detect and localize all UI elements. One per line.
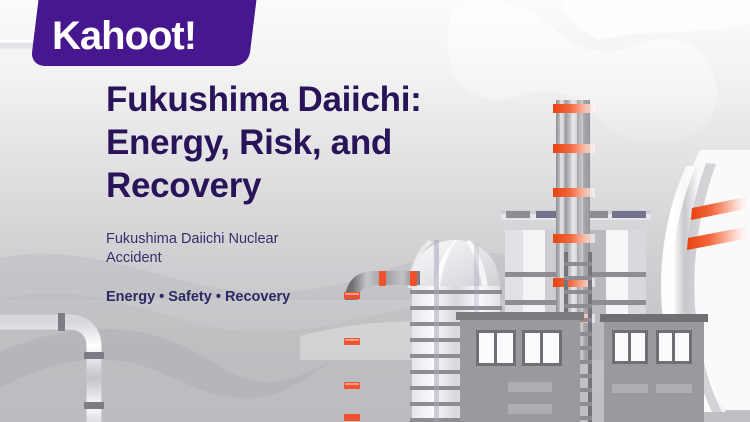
page-subtitle: Fukushima Daiichi Nuclear Accident [106,207,331,268]
title-line-3: Recovery [106,164,526,207]
kahoot-title-slide: Kahoot! Fukushima Daiichi: Energy, Risk,… [0,0,750,422]
page-title: Fukushima Daiichi: Energy, Risk, and Rec… [106,78,526,207]
title-line-1: Fukushima Daiichi: [106,78,526,121]
kahoot-wordmark: Kahoot! [52,8,252,64]
reactor-building-left [456,312,584,422]
slide-text-block: Fukushima Daiichi: Energy, Risk, and Rec… [106,78,526,307]
page-tagline: Energy • Safety • Recovery [106,268,526,307]
kahoot-logo-text: Kahoot! [52,14,196,58]
left-pipe [0,290,232,422]
reactor-building-right [600,314,708,422]
title-line-2: Energy, Risk, and [106,121,526,164]
